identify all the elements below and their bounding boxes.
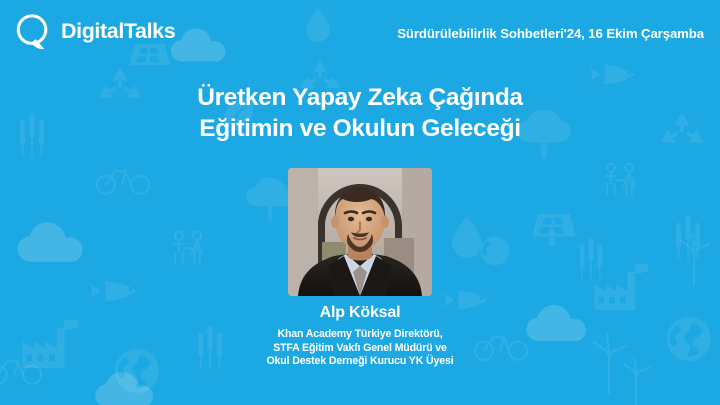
speaker-credential-1: Khan Academy Türkiye Direktörü,	[0, 328, 720, 342]
globe-icon	[480, 236, 510, 266]
title-line-2: Eğitimin ve Okulun Geleceği	[0, 113, 720, 144]
logo-text: DigitalTalks	[61, 21, 175, 43]
digitaltalks-logo[interactable]: DigitalTalks	[14, 13, 175, 51]
speaker-info: Alp Köksal Khan Academy Türkiye Direktör…	[0, 303, 720, 369]
tree-icon	[246, 176, 294, 220]
cloud-icon	[92, 372, 158, 405]
speaker-credential-2: STFA Eğitim Vakfı Genel Müdürü ve	[0, 342, 720, 356]
portrait-illustration	[288, 168, 432, 296]
family-icon	[168, 230, 208, 265]
slide-header: DigitalTalks Sürdürülebilirlik Sohbetler…	[0, 0, 720, 62]
speaker-credential-3: Okul Destek Derneği Kurucu YK Üyesi	[0, 355, 720, 369]
presentation-slide: DigitalTalks Sürdürülebilirlik Sohbetler…	[0, 0, 720, 405]
wheat-icon	[672, 208, 704, 260]
speaker-name: Alp Köksal	[0, 303, 720, 323]
fish-icon	[90, 278, 144, 304]
bicycle-icon	[96, 162, 150, 195]
family-icon	[600, 162, 640, 197]
wheat-icon	[576, 230, 606, 280]
title-line-1: Üretken Yapay Zeka Çağında	[0, 82, 720, 113]
water-drop-icon	[452, 216, 482, 258]
speaker-portrait-image	[288, 168, 432, 296]
cloud-icon	[14, 222, 88, 262]
event-date-label: Sürdürülebilirlik Sohbetleri'24, 16 Ekim…	[397, 26, 704, 41]
q-speech-bubble-icon	[14, 13, 52, 51]
wind-turbine-icon	[672, 232, 716, 286]
solar-panel-icon	[528, 212, 576, 246]
slide-title: Üretken Yapay Zeka Çağında Eğitimin ve O…	[0, 82, 720, 145]
speaker-photo	[288, 168, 432, 296]
